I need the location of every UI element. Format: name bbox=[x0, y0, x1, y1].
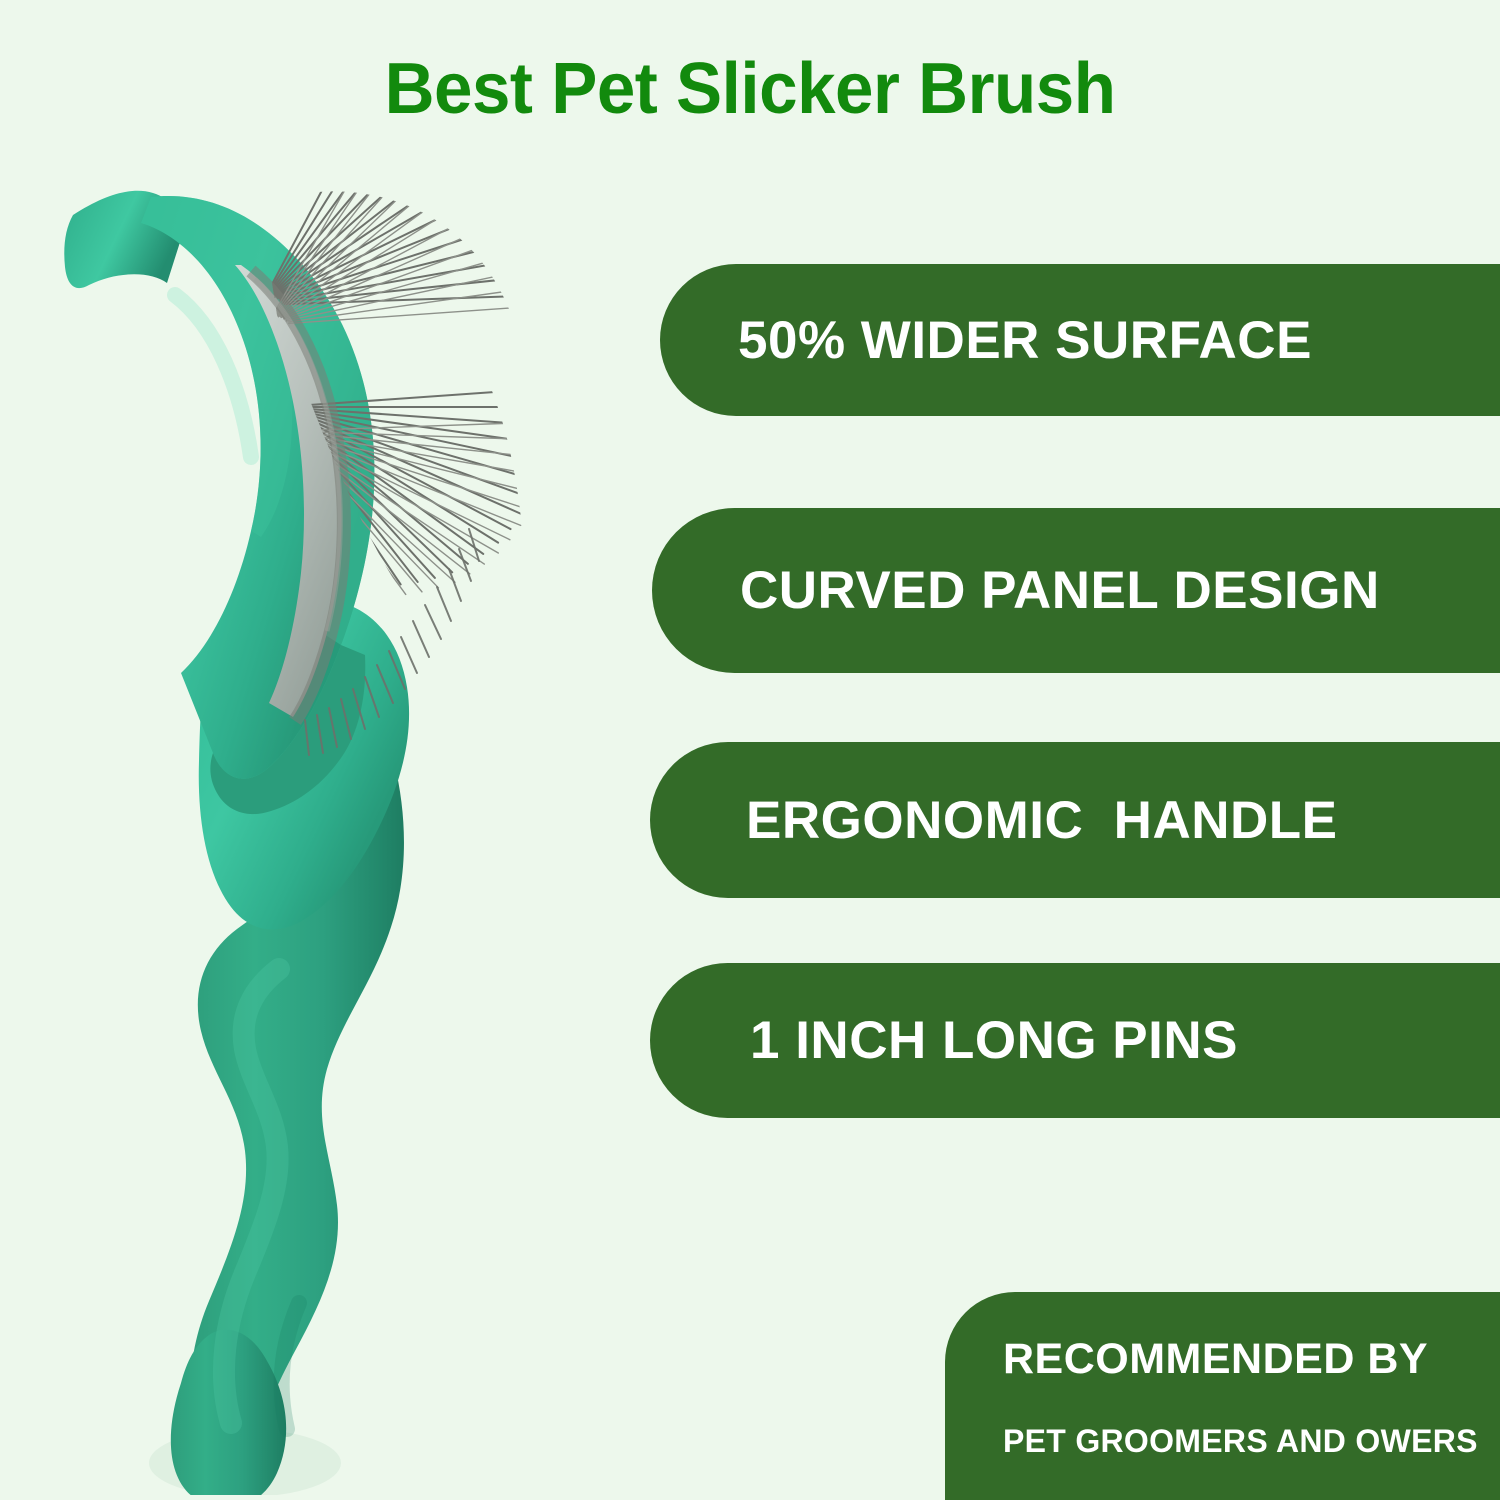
product-infographic: Best Pet Slicker Brush bbox=[0, 0, 1500, 1500]
feature-badge-label: CURVED PANEL DESIGN bbox=[740, 564, 1380, 617]
feature-badge-label: ERGONOMIC HANDLE bbox=[746, 794, 1338, 847]
feature-badge-label: 50% WIDER SURFACE bbox=[738, 314, 1312, 367]
recommended-badge: RECOMMENDED BY PET GROOMERS AND OWERS bbox=[945, 1292, 1500, 1500]
feature-badge-ergonomic-handle: ERGONOMIC HANDLE bbox=[650, 742, 1500, 898]
feature-badge-wider-surface: 50% WIDER SURFACE bbox=[660, 264, 1500, 416]
feature-badge-label: 1 INCH LONG PINS bbox=[750, 1014, 1238, 1067]
feature-badge-long-pins: 1 INCH LONG PINS bbox=[650, 963, 1500, 1118]
product-image bbox=[55, 175, 555, 1495]
recommended-title: RECOMMENDED BY bbox=[1003, 1338, 1500, 1381]
feature-badge-curved-panel: CURVED PANEL DESIGN bbox=[652, 508, 1500, 673]
recommended-subtitle: PET GROOMERS AND OWERS bbox=[1003, 1425, 1500, 1457]
page-title: Best Pet Slicker Brush bbox=[30, 48, 1470, 130]
